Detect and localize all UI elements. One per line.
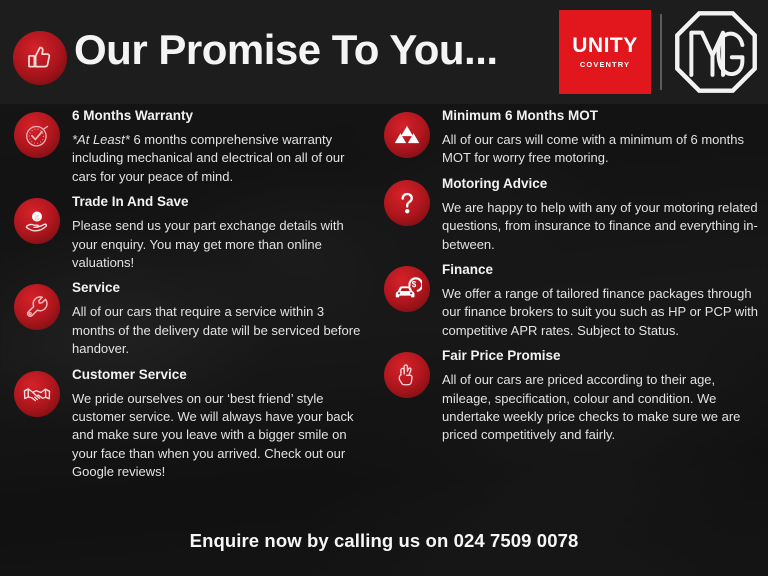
promise-item-finance: $ Finance We offer a range of tailored f…: [370, 262, 768, 340]
right-promise-column: Minimum 6 Months MOT All of our cars wil…: [370, 108, 768, 453]
crossed-fingers-icon: [384, 352, 430, 398]
promise-body: Please send us your part exchange detail…: [72, 217, 362, 272]
wrench-icon: [14, 284, 60, 330]
hand-holding-pound-icon: £: [14, 198, 60, 244]
handshake-icon: [14, 371, 60, 417]
left-promise-column: 6 Months Warranty *At Least* 6 months co…: [0, 108, 372, 490]
promise-body: *At Least* 6 months comprehensive warran…: [72, 131, 362, 186]
car-finance-icon: $: [384, 266, 430, 312]
unity-coventry-logo: UNITY COVENTRY: [559, 10, 651, 94]
promise-body: All of our cars will come with a minimum…: [442, 131, 758, 168]
promise-item-trade-in: £ Trade In And Save Please send us your …: [0, 194, 372, 272]
promise-item-motoring-advice: Motoring Advice We are happy to help wit…: [370, 176, 768, 254]
promise-body: We are happy to help with any of your mo…: [442, 199, 758, 254]
promise-title: Finance: [442, 262, 758, 279]
promise-title: Minimum 6 Months MOT: [442, 108, 758, 125]
mg-logo: [672, 8, 760, 96]
promise-body: We pride ourselves on our ‘best friend’ …: [72, 390, 362, 482]
svg-text:$: $: [412, 280, 417, 289]
promise-body: All of our cars are priced according to …: [442, 371, 758, 445]
enquire-call-to-action: Enquire now by calling us on 024 7509 00…: [0, 530, 768, 552]
promise-item-fair-price: Fair Price Promise All of our cars are p…: [370, 348, 768, 445]
promise-title: Customer Service: [72, 367, 362, 384]
promise-body: We offer a range of tailored finance pac…: [442, 285, 758, 340]
unity-logo-word: UNITY: [572, 35, 638, 56]
promise-title: Fair Price Promise: [442, 348, 758, 365]
promise-body: All of our cars that require a service w…: [72, 303, 362, 358]
logo-divider: [660, 14, 662, 90]
promise-item-service: Service All of our cars that require a s…: [0, 280, 372, 358]
promise-item-warranty: 6 Months Warranty *At Least* 6 months co…: [0, 108, 372, 186]
svg-text:£: £: [35, 213, 39, 222]
thumbs-up-icon: [13, 31, 67, 85]
stopwatch-icon: [14, 112, 60, 158]
promise-title: Trade In And Save: [72, 194, 362, 211]
header-bar: Our Promise To You... UNITY COVENTRY: [0, 0, 768, 104]
promise-title: Service: [72, 280, 362, 297]
promise-body-emphasis: *At Least*: [72, 132, 130, 147]
mot-triangles-icon: [384, 112, 430, 158]
promise-title: Motoring Advice: [442, 176, 758, 193]
promise-title: 6 Months Warranty: [72, 108, 362, 125]
promise-item-mot: Minimum 6 Months MOT All of our cars wil…: [370, 108, 768, 168]
promise-item-customer-service: Customer Service We pride ourselves on o…: [0, 367, 372, 482]
unity-logo-subtitle: COVENTRY: [580, 61, 630, 69]
promise-banner: Our Promise To You... UNITY COVENTRY: [0, 0, 768, 576]
page-title: Our Promise To You...: [74, 26, 498, 74]
question-mark-icon: [384, 180, 430, 226]
